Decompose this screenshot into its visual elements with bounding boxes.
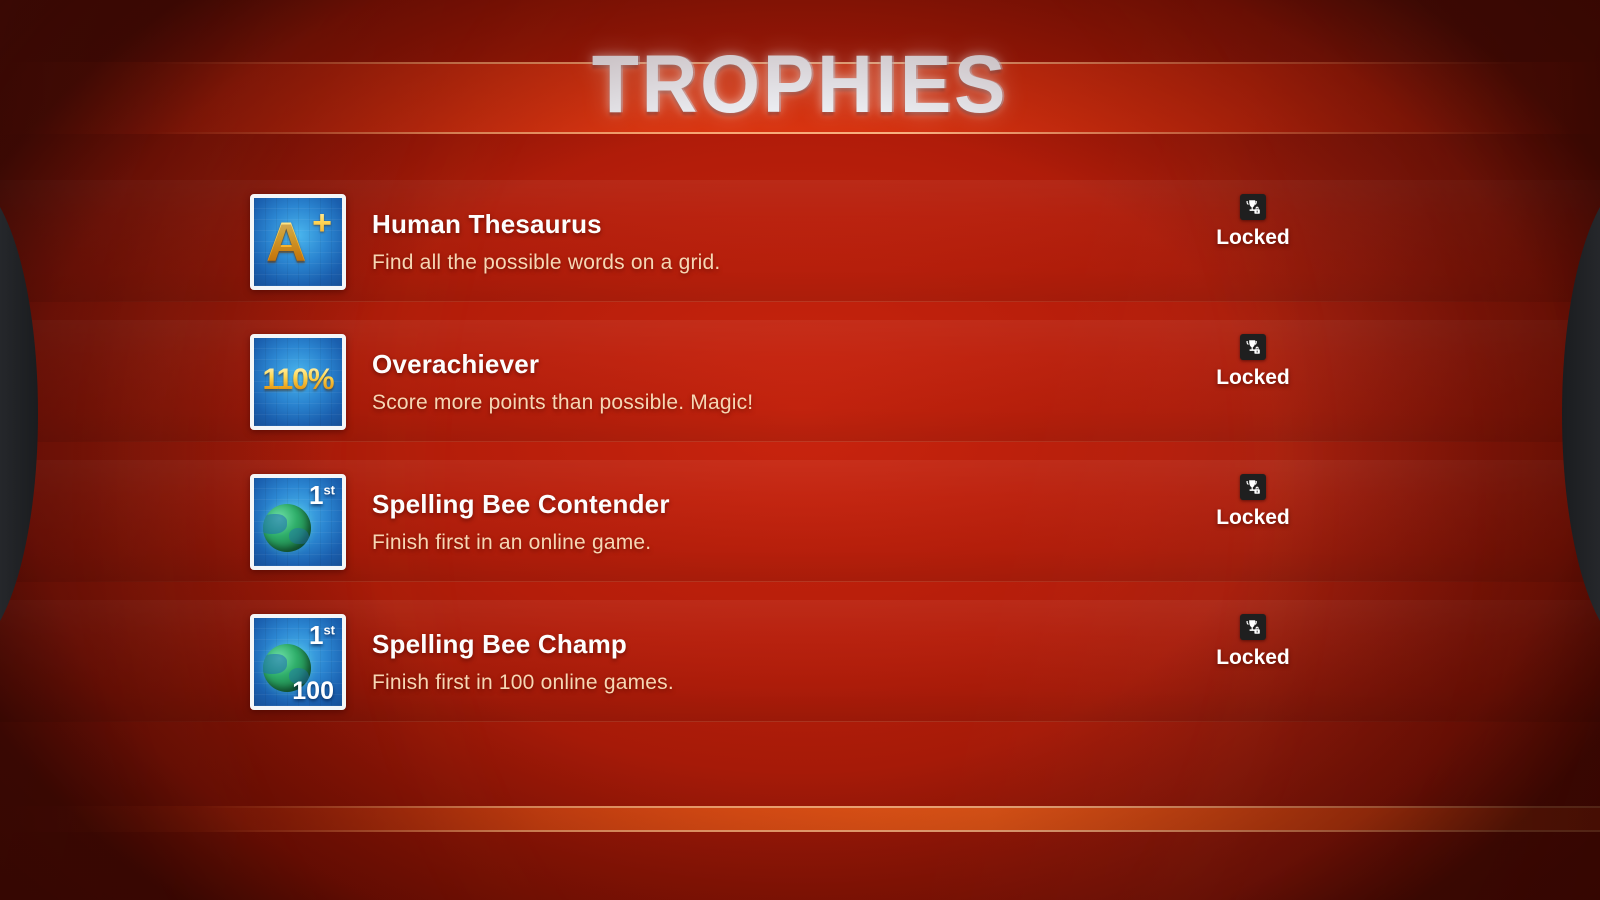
trophy-text-block: Overachiever Score more points than poss… bbox=[372, 349, 753, 415]
trophy-status: Locked bbox=[1193, 334, 1313, 390]
icon-percent-text: 110% bbox=[254, 365, 342, 395]
trophy-status-label: Locked bbox=[1193, 646, 1313, 670]
icon-rank-text: 1st bbox=[309, 622, 335, 648]
trophy-name: Overachiever bbox=[372, 349, 753, 380]
row-background bbox=[0, 320, 1600, 442]
trophy-text-block: Spelling Bee Champ Finish first in 100 o… bbox=[372, 629, 674, 695]
icon-count-text: 100 bbox=[292, 679, 334, 704]
trophy-locked-icon bbox=[1240, 194, 1266, 220]
trophy-name: Human Thesaurus bbox=[372, 209, 720, 240]
icon-rank-text: 1st bbox=[309, 482, 335, 508]
a-plus-icon: A + bbox=[250, 194, 346, 290]
trophy-name: Spelling Bee Champ bbox=[372, 629, 674, 660]
trophy-locked-icon bbox=[1240, 614, 1266, 640]
trophy-locked-icon bbox=[1240, 474, 1266, 500]
page-title: TROPHIES bbox=[48, 44, 1552, 126]
globe-first-place-icon: 1st bbox=[250, 474, 346, 570]
trophy-status: Locked bbox=[1193, 474, 1313, 530]
trophy-status-label: Locked bbox=[1193, 226, 1313, 250]
trophy-description: Find all the possible words on a grid. bbox=[372, 251, 720, 275]
trophy-status: Locked bbox=[1193, 614, 1313, 670]
icon-letter-a: A bbox=[266, 214, 306, 270]
globe-shape bbox=[263, 504, 311, 552]
bottom-accent-streak bbox=[0, 806, 1600, 832]
globe-first-place-100-icon: 1st 100 bbox=[250, 614, 346, 710]
trophy-description: Finish first in an online game. bbox=[372, 531, 670, 555]
trophy-row[interactable]: 1st Spelling Bee Contender Finish first … bbox=[250, 452, 1350, 592]
trophy-text-block: Spelling Bee Contender Finish first in a… bbox=[372, 489, 670, 555]
trophy-locked-icon bbox=[1240, 334, 1266, 360]
trophy-status-label: Locked bbox=[1193, 366, 1313, 390]
trophy-name: Spelling Bee Contender bbox=[372, 489, 670, 520]
trophy-row[interactable]: A + Human Thesaurus Find all the possibl… bbox=[250, 172, 1350, 312]
trophy-row[interactable]: 1st 100 Spelling Bee Champ Finish first … bbox=[250, 592, 1350, 732]
trophy-status: Locked bbox=[1193, 194, 1313, 250]
right-bezel-shape bbox=[1562, 176, 1600, 652]
icon-plus-sign: + bbox=[312, 206, 332, 240]
row-background bbox=[0, 600, 1600, 722]
trophy-row[interactable]: 110% Overachiever Score more points than… bbox=[250, 312, 1350, 452]
trophy-description: Score more points than possible. Magic! bbox=[372, 391, 753, 415]
trophy-description: Finish first in 100 online games. bbox=[372, 671, 674, 695]
row-background bbox=[0, 180, 1600, 302]
trophy-text-block: Human Thesaurus Find all the possible wo… bbox=[372, 209, 720, 275]
trophies-screen: TROPHIES A + Human Thesaurus Find all th… bbox=[0, 0, 1600, 900]
row-background bbox=[0, 460, 1600, 582]
trophy-status-label: Locked bbox=[1193, 506, 1313, 530]
trophy-list: A + Human Thesaurus Find all the possibl… bbox=[250, 172, 1350, 732]
left-bezel-shape bbox=[0, 176, 38, 652]
percent-110-icon: 110% bbox=[250, 334, 346, 430]
